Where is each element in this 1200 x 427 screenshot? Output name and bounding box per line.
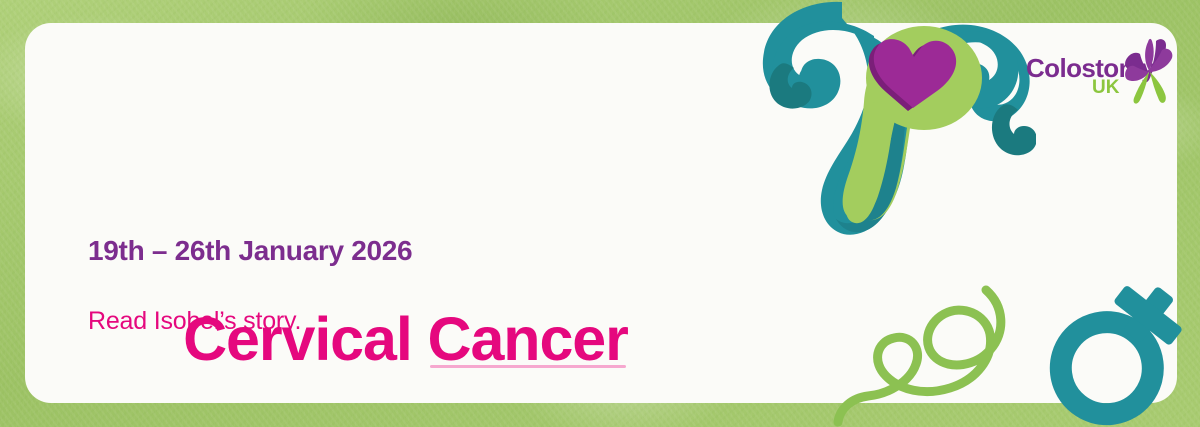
iris-flower-icon xyxy=(1118,36,1174,106)
read-story-link[interactable]: Read Isobel’s story. xyxy=(88,306,301,336)
cervical-cancer-prevention-week-banner: Cervical Cancer Prevention Week 19th – 2… xyxy=(0,0,1200,427)
logo-suffix: UK xyxy=(1092,78,1119,98)
event-dates: 19th – 26th January 2026 xyxy=(88,234,412,268)
headline-underlined-word: Cancer xyxy=(428,305,628,373)
colostomy-uk-logo[interactable]: Colostomy UK xyxy=(1022,36,1172,106)
